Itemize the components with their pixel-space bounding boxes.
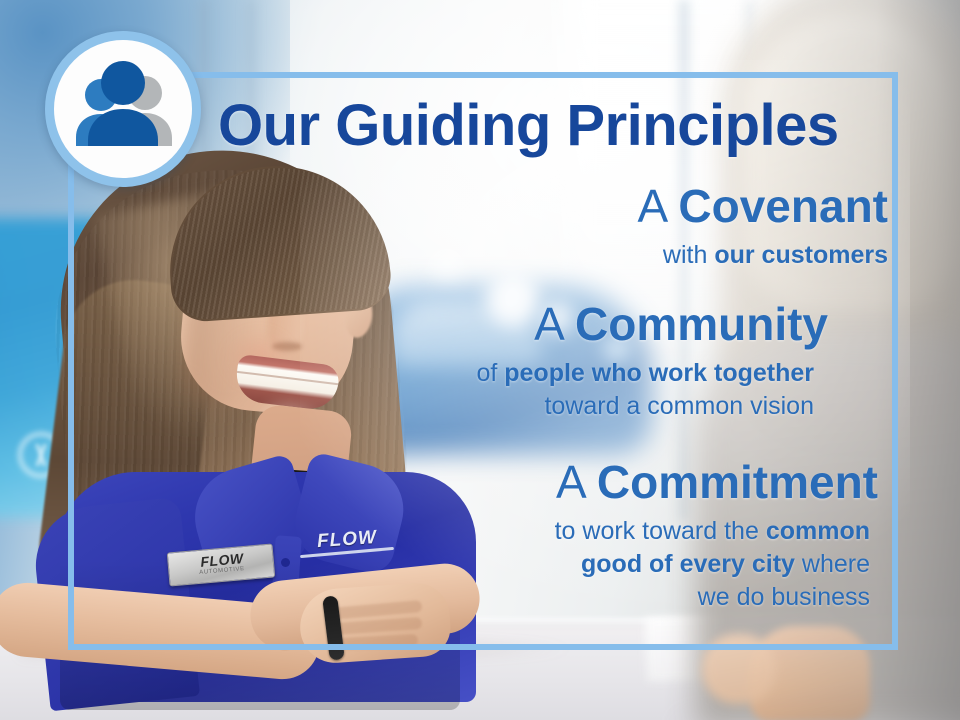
principle-subtext: with our customers xyxy=(0,239,888,272)
subtext-run: where xyxy=(795,550,870,578)
guiding-principles-graphic: FLOW FLOW AUTOMOTIVE xyxy=(0,0,960,720)
subtext-run-bold: our customers xyxy=(714,241,888,269)
principle-subtext: to work toward the common good of every … xyxy=(0,515,878,614)
principle-article: A xyxy=(534,298,575,350)
subtext-run: of xyxy=(476,359,504,387)
principle-heading: A Commitment xyxy=(0,458,878,507)
principle-covenant: A Covenant with our customers xyxy=(0,182,888,272)
subtext-run: we do business xyxy=(698,583,870,611)
subtext-run-bold: people who work together xyxy=(504,359,814,387)
subtext-run: to work toward the xyxy=(555,517,766,545)
subtext-run: toward a common vision xyxy=(544,392,814,420)
principle-article: A xyxy=(637,180,678,232)
principle-commitment: A Commitment to work toward the common g… xyxy=(0,458,878,614)
subtext-run-bold: good of every city xyxy=(581,550,795,578)
principle-keyword: Commitment xyxy=(597,456,878,508)
principle-keyword: Covenant xyxy=(678,180,888,232)
group-of-people-icon xyxy=(45,31,201,187)
page-title: Our Guiding Principles xyxy=(218,92,839,159)
subtext-run: with xyxy=(663,241,714,269)
principle-subtext: of people who work together toward a com… xyxy=(0,357,828,423)
principle-community: A Community of people who work together … xyxy=(0,300,828,423)
principle-heading: A Covenant xyxy=(0,182,888,231)
subtext-run-bold: common xyxy=(766,517,870,545)
principle-heading: A Community xyxy=(0,300,828,349)
principle-keyword: Community xyxy=(575,298,828,350)
principle-article: A xyxy=(556,456,597,508)
